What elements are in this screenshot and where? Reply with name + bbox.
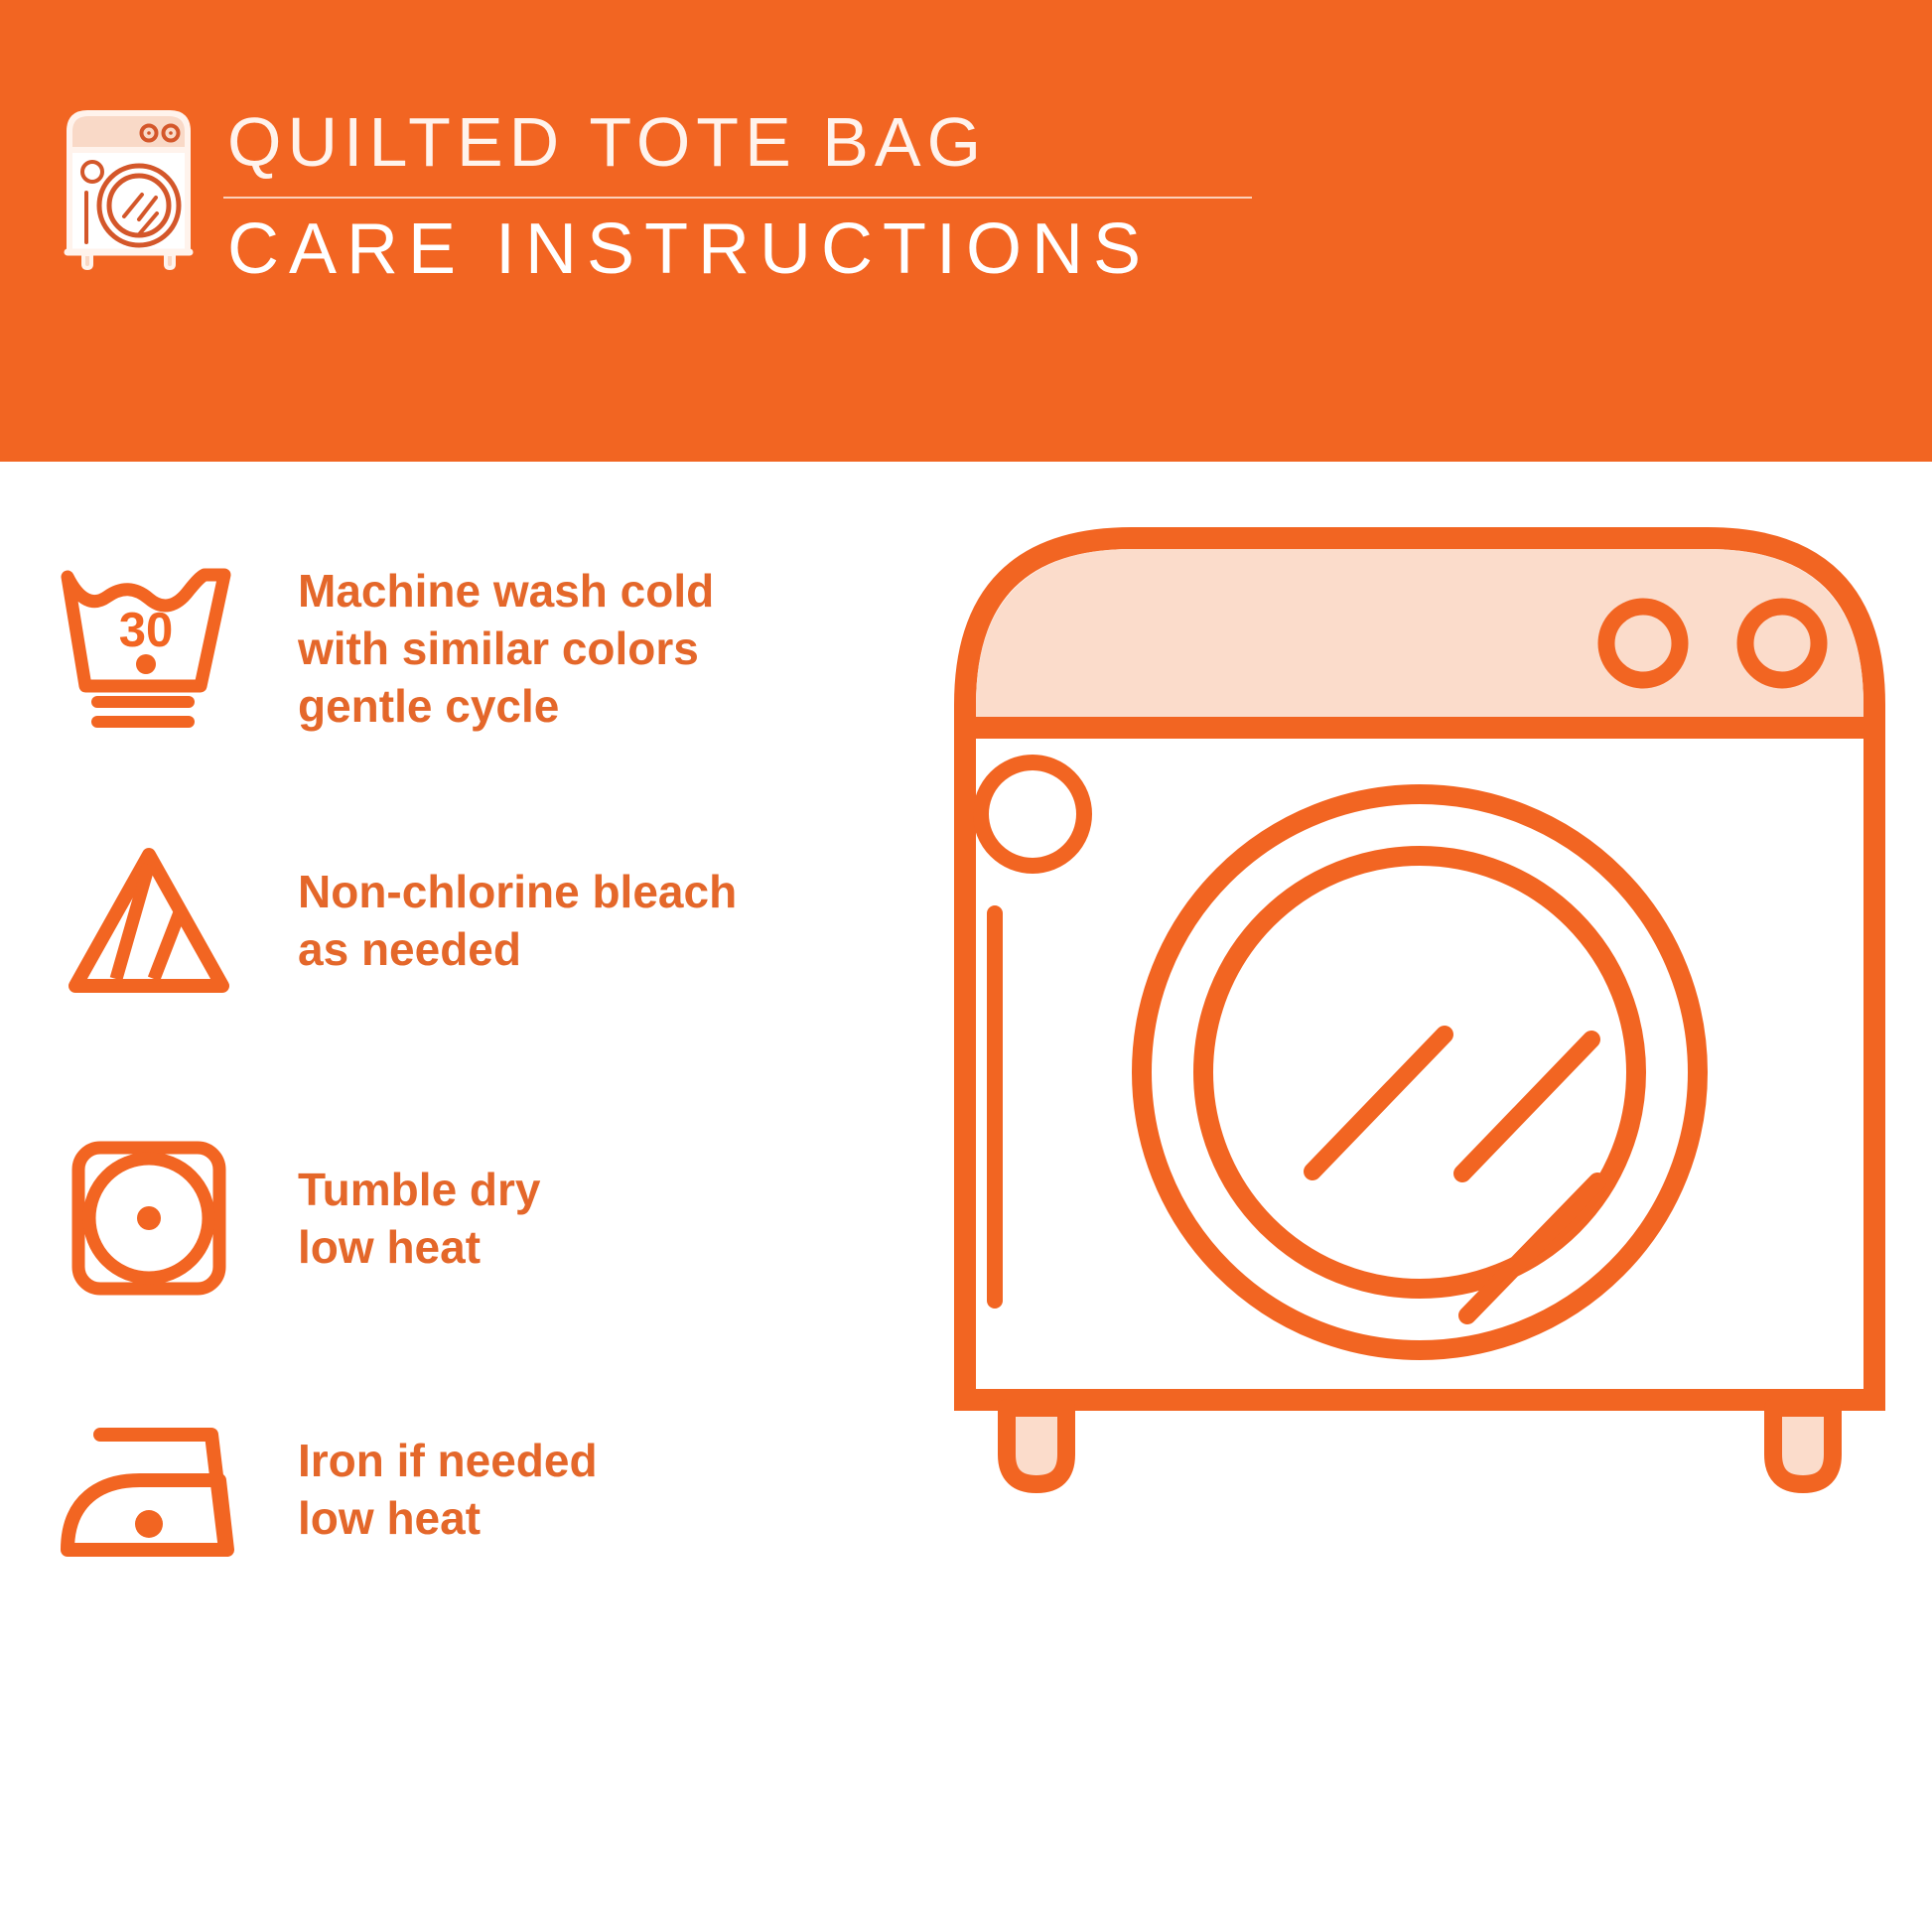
care-label-line: Tumble dry (298, 1161, 933, 1218)
care-label-line: Machine wash cold (298, 562, 933, 620)
page-subtitle: CARE INSTRUCTIONS (223, 208, 1352, 290)
page-title: QUILTED TOTE BAG (223, 103, 1352, 181)
care-instruction-row: Iron if needed low heat (0, 1415, 933, 1564)
header-divider (223, 197, 1252, 199)
header-banner: QUILTED TOTE BAG CARE INSTRUCTIONS (0, 0, 1932, 462)
care-instructions-list: 30 Machine wash cold with similar colors… (0, 462, 953, 1932)
non-chlorine-bleach-triangle-icon (0, 841, 298, 1000)
tumble-dry-low-heat-icon (0, 1137, 298, 1300)
care-label-line: gentle cycle (298, 677, 933, 735)
wash-temperature-value: 30 (119, 604, 174, 657)
care-instruction-label: Tumble dry low heat (298, 1161, 933, 1276)
care-label-line: Iron if needed (298, 1432, 933, 1489)
care-instruction-row: Tumble dry low heat (0, 1137, 933, 1300)
care-instruction-label: Machine wash cold with similar colors ge… (298, 562, 933, 735)
care-instruction-row: Non-chlorine bleach as needed (0, 841, 933, 1000)
care-instruction-row: 30 Machine wash cold with similar colors… (0, 561, 933, 735)
iron-low-heat-icon (0, 1415, 298, 1564)
washing-machine-icon (62, 103, 196, 270)
care-instruction-label: Non-chlorine bleach as needed (298, 863, 933, 978)
header-text-block: QUILTED TOTE BAG CARE INSTRUCTIONS (223, 103, 1352, 290)
care-label-line: Non-chlorine bleach (298, 863, 933, 920)
washing-machine-illustration (943, 516, 1896, 1529)
wash-tub-30-gentle-icon: 30 (0, 561, 298, 735)
care-label-line: low heat (298, 1218, 933, 1276)
header-content: QUILTED TOTE BAG CARE INSTRUCTIONS (62, 103, 1352, 282)
care-instruction-label: Iron if needed low heat (298, 1432, 933, 1547)
care-label-line: low heat (298, 1489, 933, 1547)
care-label-line: as needed (298, 920, 933, 978)
care-label-line: with similar colors (298, 620, 933, 677)
